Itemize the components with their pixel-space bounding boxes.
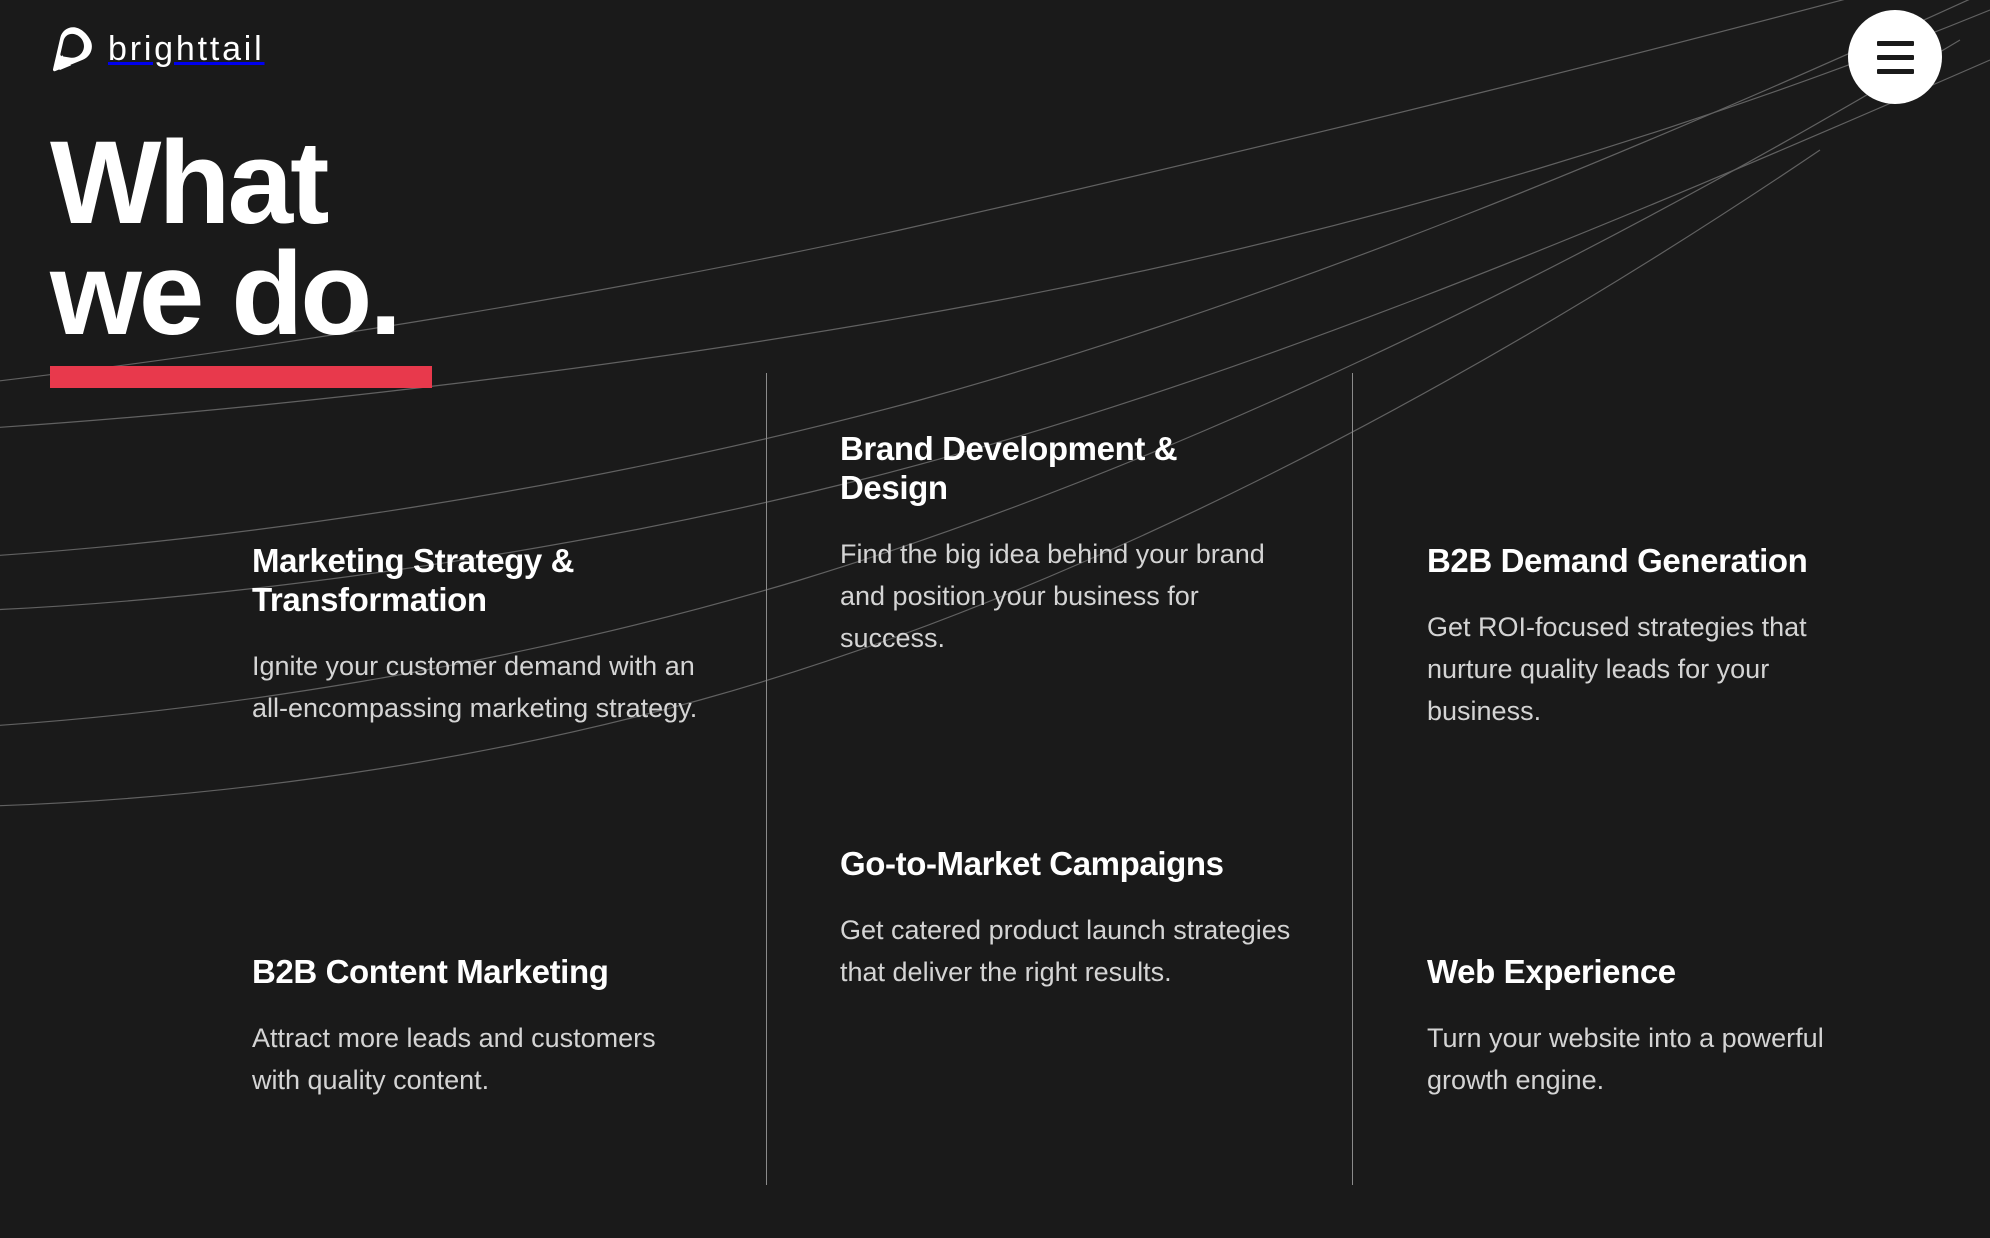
hamburger-menu-icon-bar-1 [1877, 41, 1914, 46]
service-card-b2b-content-marketing[interactable]: B2B Content Marketing Attract more leads… [252, 953, 704, 1102]
service-title: Web Experience [1427, 953, 1879, 992]
hero-heading-block: What we do. [50, 128, 432, 388]
service-card-marketing-strategy[interactable]: Marketing Strategy & Transformation Igni… [252, 542, 704, 730]
service-card-brand-development-design[interactable]: Brand Development & Design Find the big … [840, 430, 1292, 659]
hamburger-menu-icon-bar-3 [1877, 69, 1914, 74]
service-description: Turn your website into a powerful growth… [1427, 1018, 1879, 1102]
service-description: Get catered product launch strategies th… [840, 910, 1292, 994]
service-description: Find the big idea behind your brand and … [840, 534, 1292, 660]
hamburger-menu-button[interactable] [1848, 10, 1942, 104]
service-description: Attract more leads and customers with qu… [252, 1018, 704, 1102]
service-card-web-experience[interactable]: Web Experience Turn your website into a … [1427, 953, 1879, 1102]
teardrop-logo-icon [50, 26, 92, 72]
title-accent-underline [50, 366, 432, 388]
service-title: Marketing Strategy & Transformation [252, 542, 704, 620]
service-title: B2B Demand Generation [1427, 542, 1879, 581]
service-title: Go-to-Market Campaigns [840, 845, 1292, 884]
brand-name: brighttail [108, 32, 265, 66]
brand-logo-link[interactable]: brighttail [50, 26, 265, 72]
column-divider-1 [766, 373, 767, 1185]
column-divider-2 [1352, 373, 1353, 1185]
page-title-line-1: What [50, 128, 432, 239]
service-card-b2b-demand-generation[interactable]: B2B Demand Generation Get ROI-focused st… [1427, 542, 1879, 732]
site-header: brighttail [0, 0, 1990, 110]
page-title-line-2: we do. [50, 239, 432, 350]
service-card-go-to-market-campaigns[interactable]: Go-to-Market Campaigns Get catered produ… [840, 845, 1292, 994]
service-title: Brand Development & Design [840, 430, 1292, 508]
hamburger-menu-icon-bar-2 [1877, 55, 1914, 60]
service-description: Get ROI-focused strategies that nurture … [1427, 607, 1879, 733]
service-description: Ignite your customer demand with an all-… [252, 646, 704, 730]
service-title: B2B Content Marketing [252, 953, 704, 992]
